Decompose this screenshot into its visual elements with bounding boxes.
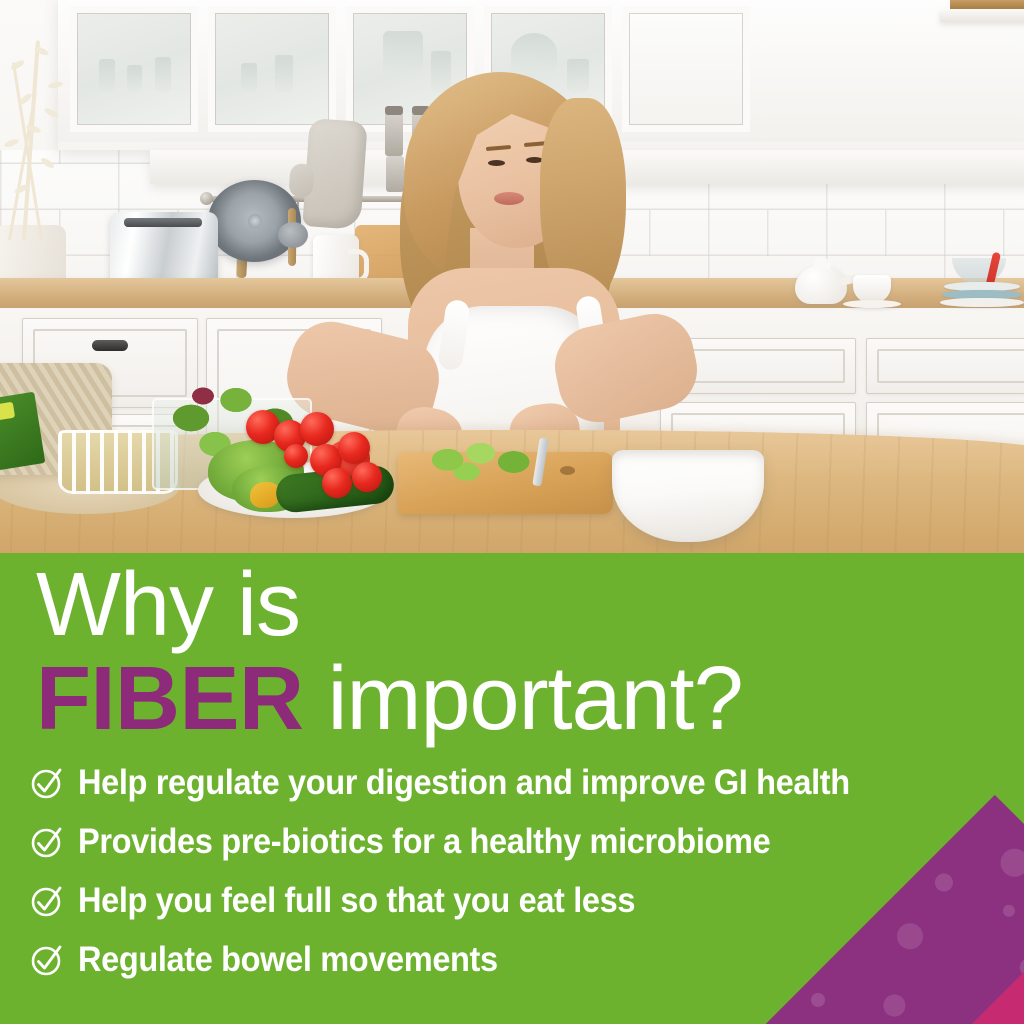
drawer-pull [92,340,128,351]
fiber-infographic-poster: Why is FIBER important? Help regulate yo… [0,0,1024,1024]
rail-end-cap [200,192,213,205]
teapot-lid [813,258,831,269]
list-item-label: Provides pre-biotics for a healthy micro… [78,822,770,862]
cutting-board-hole [560,466,575,475]
spice-jar [386,156,404,192]
cherry-tomato [338,432,370,464]
green-info-panel: Why is FIBER important? Help regulate yo… [0,553,1024,1024]
headline-line-1: Why is [36,561,300,649]
woman-eye [488,160,505,166]
list-item: Regulate bowel movements [30,930,908,989]
list-item-label: Help you feel full so that you eat less [78,881,635,921]
oven-mitt [302,118,367,230]
cabinet-door-glass [70,6,198,132]
list-item-label: Regulate bowel movements [78,940,498,980]
wall-shelf [940,8,1024,22]
benefit-list: Help regulate your digestion and improve… [30,753,908,989]
list-item-label: Help regulate your digestion and improve… [78,763,850,803]
check-circle-icon [30,825,64,859]
saucer [843,300,901,308]
check-circle-icon [30,884,64,918]
toaster-slot [124,218,202,227]
headline-line-2: FIBER important? [36,655,743,743]
headline-emphasis-fiber: FIBER [36,649,304,749]
list-item: Help regulate your digestion and improve… [30,753,908,812]
kitchen-photo [0,0,1024,556]
spice-jar-lid [385,106,403,115]
cherry-tomato [322,468,352,498]
chopped-lettuce [424,440,542,484]
cherry-tomato [352,462,382,492]
headline-line-2-rest: important? [304,649,743,749]
spice-jar [385,112,403,156]
package-label [0,402,15,421]
list-item: Help you feel full so that you eat less [30,871,908,930]
check-circle-icon [30,943,64,977]
shelf-wood-trim [950,0,1024,9]
woman-lips [494,192,524,205]
cabinet-door [622,6,750,132]
teapot [795,266,847,304]
cabinet-door-glass [208,6,336,132]
check-circle-icon [30,766,64,800]
cabinet-drawer [866,338,1024,394]
stacked-plate [940,298,1024,307]
cherry-tomato [300,412,334,446]
list-item: Provides pre-biotics for a healthy micro… [30,812,908,871]
cherry-tomato [284,444,308,468]
ladle-head [278,222,308,248]
